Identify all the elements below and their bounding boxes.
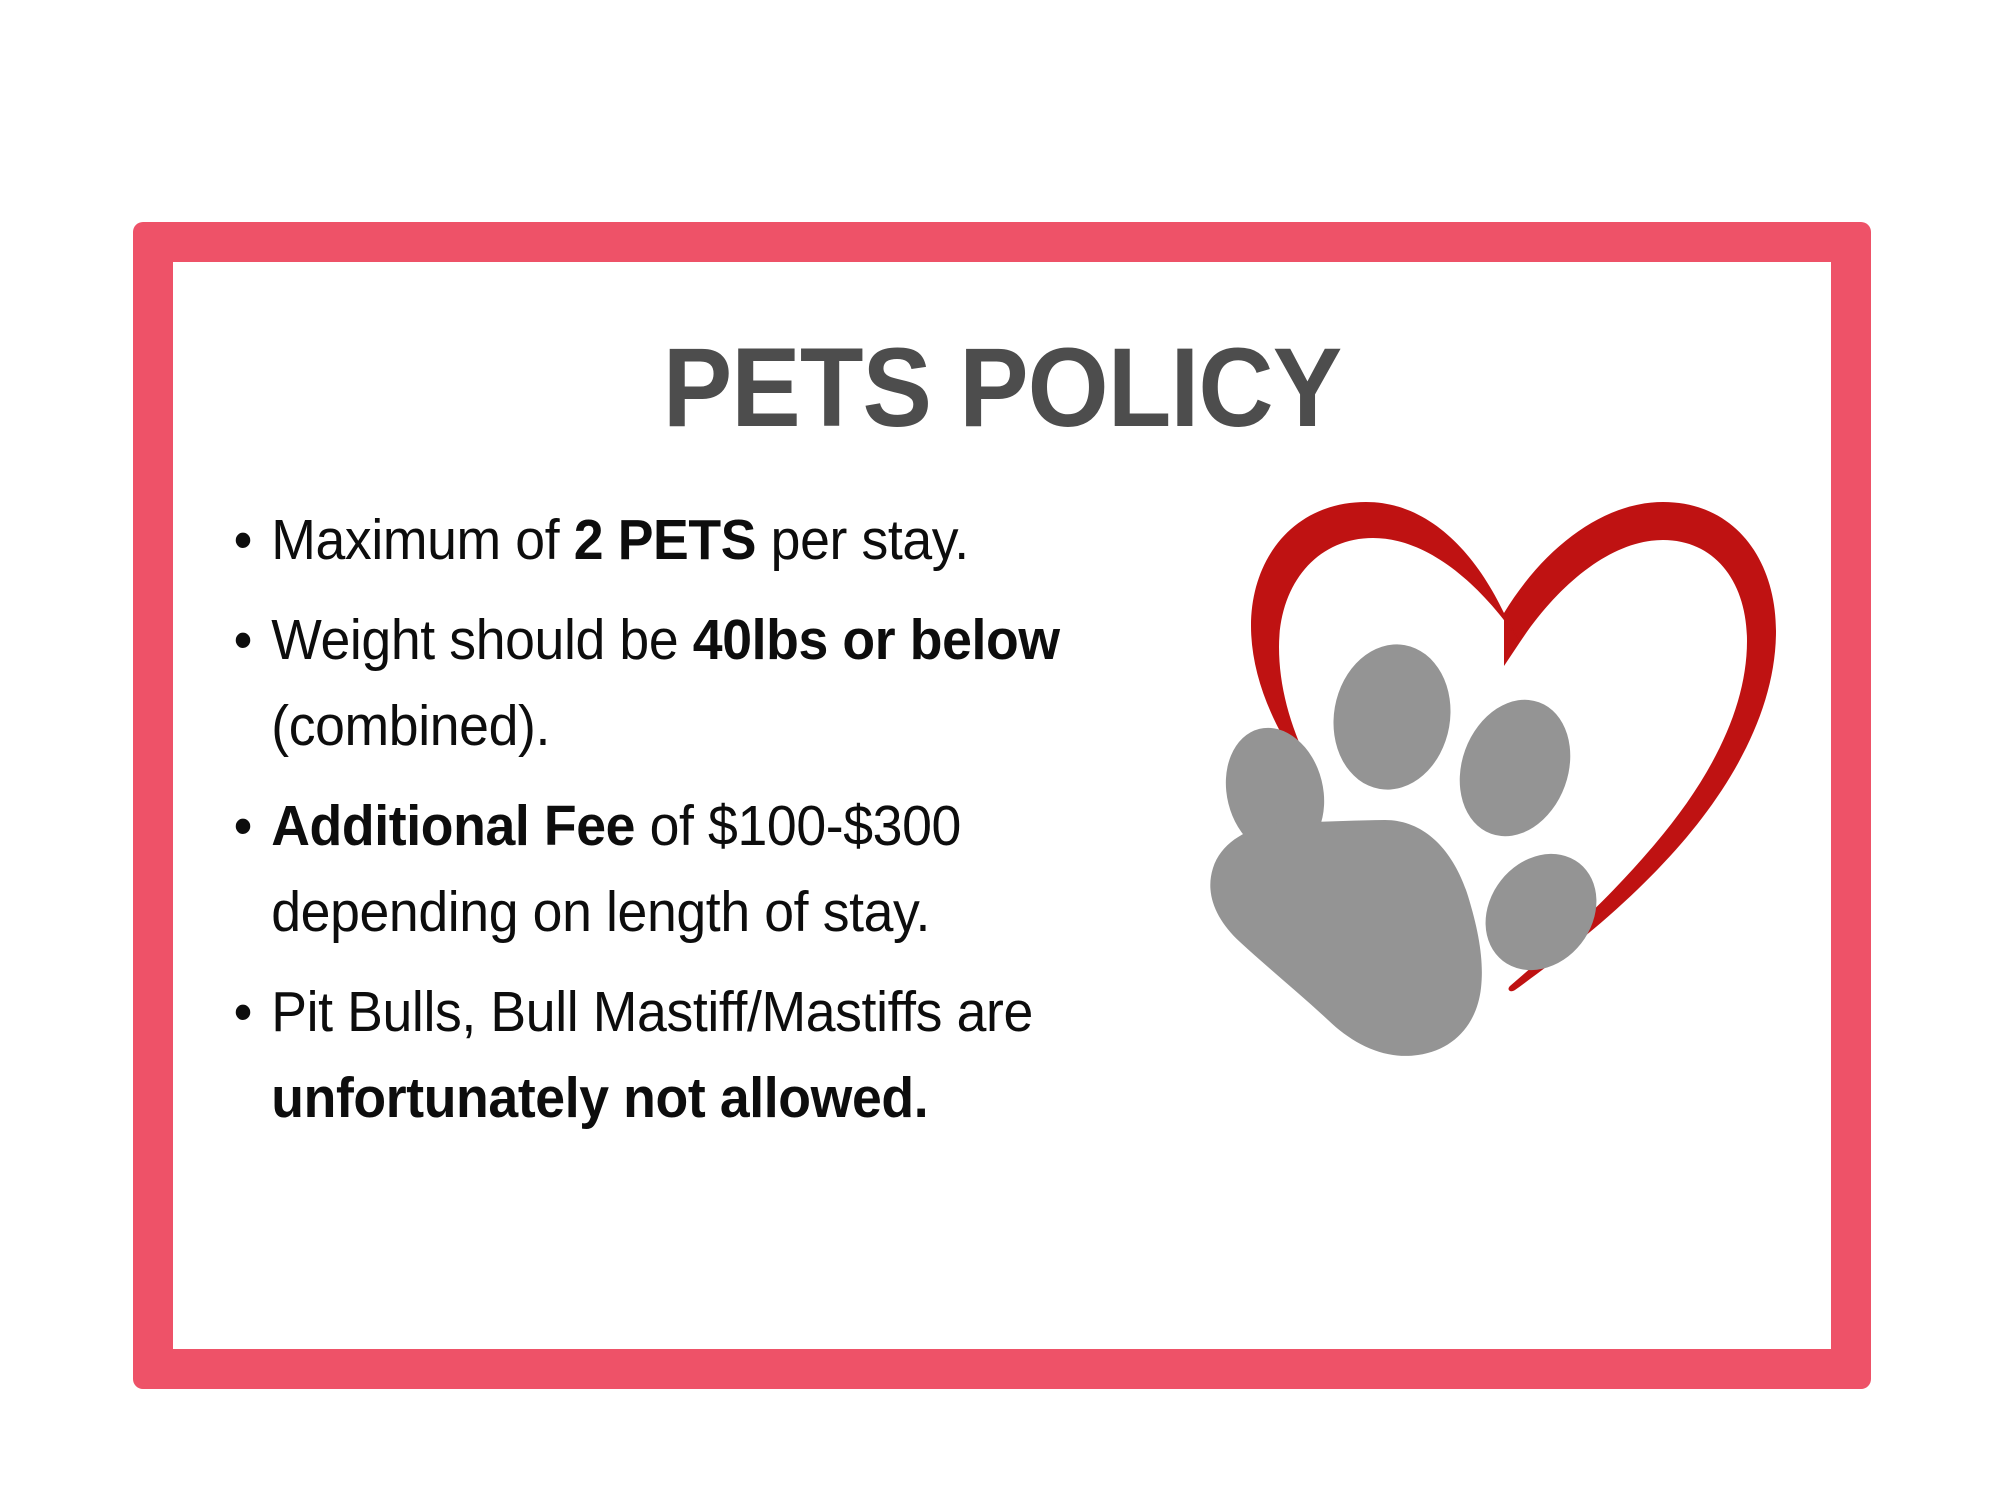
heart-paw-logo [1163, 472, 1793, 1072]
emphasis-text: unfortunately not allowed. [271, 1066, 928, 1130]
emphasis-text: 2 PETS [574, 508, 756, 572]
pets-policy-card: PETS POLICY •Maximum of 2 PETS per stay.… [133, 222, 1871, 1389]
policy-bullet-list: •Maximum of 2 PETS per stay.•Weight shou… [228, 497, 1218, 1155]
plain-text: (combined). [271, 694, 550, 758]
policy-item-additional-fee: •Additional Fee of $100-$300 depending o… [228, 783, 1159, 955]
policy-item-text: Maximum of 2 PETS per stay. [271, 508, 969, 572]
card-inner: PETS POLICY •Maximum of 2 PETS per stay.… [173, 262, 1831, 1349]
policy-item-text: Weight should be 40lbs or below (combine… [271, 608, 1059, 758]
plain-text: per stay. [756, 508, 969, 572]
plain-text: Maximum of [271, 508, 574, 572]
policy-item-text: Additional Fee of $100-$300 depending on… [271, 794, 961, 944]
emphasis-text: 40lbs or below [693, 608, 1060, 672]
bullet-marker: • [234, 783, 262, 869]
sign-page: PETS POLICY •Maximum of 2 PETS per stay.… [0, 0, 2000, 1500]
policy-item-breed-restriction: •Pit Bulls, Bull Mastiff/Mastiffs are un… [228, 969, 1159, 1141]
page-title: PETS POLICY [231, 332, 1773, 444]
plain-text: Weight should be [271, 608, 693, 672]
bullet-marker: • [234, 497, 262, 583]
policy-item-max-pets: •Maximum of 2 PETS per stay. [228, 497, 1159, 583]
policy-item-text: Pit Bulls, Bull Mastiff/Mastiffs are unf… [271, 980, 1033, 1130]
policy-item-weight-limit: •Weight should be 40lbs or below (combin… [228, 597, 1159, 769]
plain-text: Pit Bulls, Bull Mastiff/Mastiffs are [271, 980, 1033, 1044]
bullet-marker: • [234, 969, 262, 1055]
emphasis-text: Additional Fee [271, 794, 635, 858]
bullet-marker: • [234, 597, 262, 683]
